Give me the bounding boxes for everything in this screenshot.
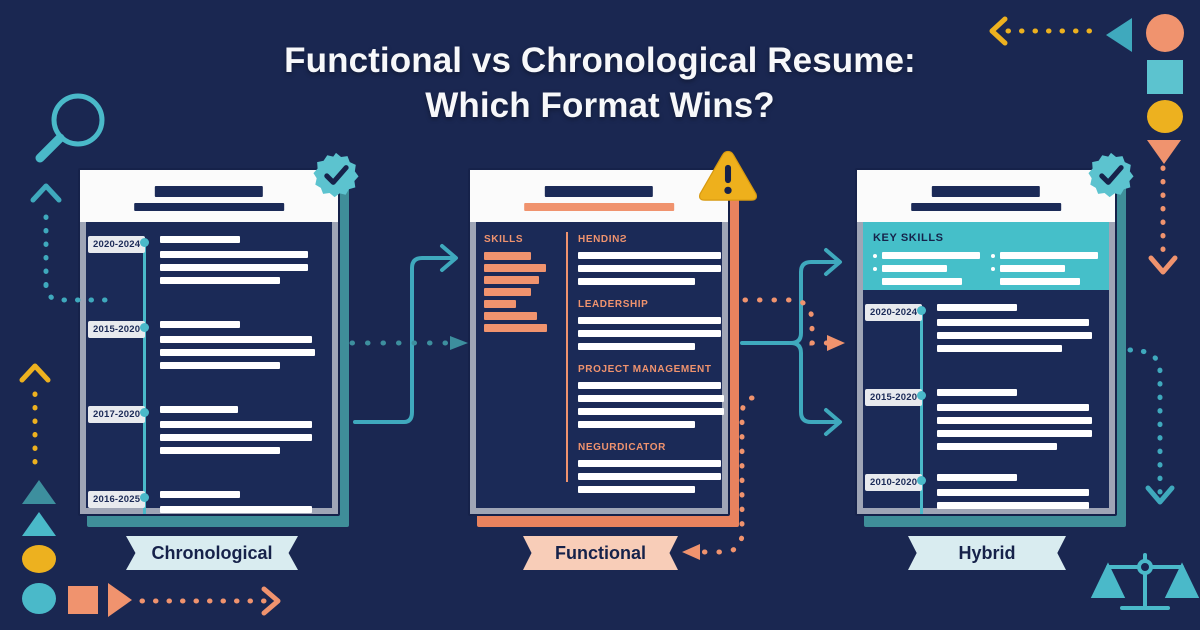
skill-bar	[484, 276, 539, 284]
timeline-date-chip: 2010-2020	[865, 474, 922, 491]
content-line	[578, 317, 721, 324]
section-heading: LEADERSHIP	[578, 299, 648, 310]
header-name-bar	[932, 186, 1040, 197]
header-name-bar	[155, 186, 263, 197]
content-line	[937, 502, 1089, 509]
cyan-square-icon	[1147, 60, 1183, 94]
salmon-circle-icon	[1146, 14, 1184, 52]
content-line	[578, 382, 721, 389]
skill-bar	[484, 312, 537, 320]
content-line	[160, 349, 315, 356]
timeline-date-chip: 2017-2020	[88, 406, 145, 423]
skill-bar	[484, 252, 531, 260]
header-subtitle-bar	[134, 203, 284, 211]
content-line	[160, 264, 308, 271]
skills-sidebar-label: SKILLS	[484, 234, 523, 245]
content-line	[160, 491, 240, 498]
timeline-date-chip: 2020-2024	[865, 304, 922, 321]
content-line	[578, 473, 721, 480]
content-line	[937, 417, 1092, 424]
cyan-triangle-left-icon	[1106, 18, 1132, 52]
content-line	[578, 278, 695, 285]
timeline-date-chip: 2020-2024	[88, 236, 145, 253]
key-skills-title: KEY SKILLS	[873, 232, 944, 244]
salmon-triangle-right-icon	[108, 583, 132, 617]
content-line	[578, 252, 721, 259]
content-line	[1000, 252, 1098, 259]
content-line	[937, 443, 1057, 450]
timeline-node	[917, 306, 926, 315]
timeline-node	[917, 476, 926, 485]
salmon-square-icon	[68, 586, 98, 614]
content-line	[160, 447, 280, 454]
skill-bar	[484, 264, 546, 272]
content-line	[160, 362, 280, 369]
balance-scales-icon	[1094, 555, 1196, 608]
teal-arrow-head-up	[33, 186, 59, 200]
content-line	[160, 336, 312, 343]
timeline-node	[140, 238, 149, 247]
content-line	[160, 251, 308, 258]
ribbon-hybrid[interactable]: Hybrid	[908, 536, 1066, 570]
skill-bar	[484, 288, 531, 296]
salmon-triangle-down-icon	[1147, 140, 1181, 164]
card-header	[80, 170, 338, 222]
yellow-arrow-head-up	[22, 366, 48, 380]
content-line	[578, 460, 721, 467]
content-line	[937, 474, 1017, 481]
warning-triangle-icon	[697, 149, 759, 205]
page-title: Functional vs Chronological Resume: Whic…	[0, 38, 1200, 128]
content-line	[1000, 265, 1065, 272]
salmon-arrow-head-down	[1151, 258, 1175, 272]
bullet-dot	[873, 267, 877, 271]
resume-card-functional[interactable]: SKILLSHENDINƧLEADERSHIPPROJECT MANAGEMEN…	[468, 168, 730, 516]
connector-functional-to-hybrid	[742, 250, 840, 434]
card-body: SKILLSHENDINƧLEADERSHIPPROJECT MANAGEMEN…	[470, 222, 728, 514]
ribbon-label: Hybrid	[958, 543, 1015, 564]
content-line	[937, 345, 1062, 352]
timeline-date-chip: 2016-2025	[88, 491, 145, 508]
ribbon-label: Chronological	[152, 543, 273, 564]
infographic-canvas: Functional vs Chronological Resume: Whic…	[0, 0, 1200, 630]
content-line	[578, 486, 695, 493]
key-skills-band: KEY SKILLS	[863, 222, 1109, 290]
dotted-arrowhead	[827, 335, 845, 351]
teal-triangle-up-icon	[22, 480, 56, 504]
content-line	[160, 406, 238, 413]
bullet-dot	[991, 254, 995, 258]
timeline-date-chip: 2015-2020	[865, 389, 922, 406]
connector-chrono-to-functional	[355, 246, 456, 422]
verified-check-badge-icon	[1088, 152, 1134, 198]
content-line	[882, 252, 980, 259]
bullet-dot	[873, 254, 877, 258]
timeline-area: 2020-20242015-20202017-20202016-2025	[86, 222, 332, 508]
content-line	[578, 343, 695, 350]
card-header	[470, 170, 728, 222]
content-line	[937, 319, 1089, 326]
hybrid-content-area: KEY SKILLS2020-20242015-20202010-2020	[863, 222, 1109, 508]
section-divider	[566, 232, 568, 482]
header-accent-bar	[524, 203, 674, 211]
content-line	[160, 421, 312, 428]
content-line	[882, 265, 947, 272]
content-line	[160, 321, 240, 328]
content-line	[937, 489, 1089, 496]
content-line	[937, 389, 1017, 396]
title-line-1: Functional vs Chronological Resume:	[284, 41, 916, 80]
section-heading: NEGURDICATOR	[578, 442, 666, 453]
yellow-circle-icon	[1147, 100, 1183, 133]
skills-sections-area: SKILLSHENDINƧLEADERSHIPPROJECT MANAGEMEN…	[476, 222, 722, 508]
skill-bar	[484, 324, 547, 332]
yellow-circle-icon	[22, 545, 56, 573]
card-body: KEY SKILLS2020-20242015-20202010-2020	[857, 222, 1115, 514]
timeline-node	[140, 408, 149, 417]
verified-check-badge-icon	[313, 152, 359, 198]
ribbon-label: Functional	[555, 543, 646, 564]
section-heading: PROJECT MANAGEMENT	[578, 364, 712, 375]
content-line	[160, 434, 312, 441]
content-line	[1000, 278, 1080, 285]
timeline-node	[917, 391, 926, 400]
content-line	[578, 330, 721, 337]
content-line	[160, 277, 280, 284]
timeline-axis	[143, 240, 146, 516]
skill-bar	[484, 300, 516, 308]
content-line	[160, 506, 312, 513]
dotted-path-functional-hybrid	[745, 300, 828, 343]
card-paper: 2020-20242015-20202017-20202016-2025	[78, 168, 340, 516]
dotted-arrowhead	[450, 336, 468, 350]
card-header	[857, 170, 1115, 222]
header-name-bar	[545, 186, 653, 197]
content-line	[578, 421, 695, 428]
teal-dotted-arrow-down	[1130, 350, 1160, 492]
cyan-circle-icon	[22, 583, 56, 614]
content-line	[937, 332, 1092, 339]
ribbon-chronological[interactable]: Chronological	[126, 536, 298, 570]
title-line-2: Which Format Wins?	[0, 83, 1200, 128]
resume-card-hybrid[interactable]: KEY SKILLS2020-20242015-20202010-2020	[855, 168, 1117, 516]
content-line	[578, 395, 724, 402]
teal-arrow-head-down	[1148, 488, 1172, 502]
content-line	[937, 515, 1057, 516]
content-line	[578, 265, 721, 272]
content-line	[937, 404, 1089, 411]
timeline-date-chip: 2015-2020	[88, 321, 145, 338]
card-paper: KEY SKILLS2020-20242015-20202010-2020	[855, 168, 1117, 516]
header-subtitle-bar	[911, 203, 1061, 211]
resume-card-chronological[interactable]: 2020-20242015-20202017-20202016-2025	[78, 168, 340, 516]
section-heading: HENDINƧ	[578, 234, 627, 245]
bullet-dot	[991, 267, 995, 271]
timeline-node	[140, 323, 149, 332]
content-line	[882, 278, 962, 285]
content-line	[937, 304, 1017, 311]
card-paper: SKILLSHENDINƧLEADERSHIPPROJECT MANAGEMEN…	[468, 168, 730, 516]
content-line	[160, 236, 240, 243]
card-body: 2020-20242015-20202017-20202016-2025	[80, 222, 338, 514]
timeline-node	[140, 493, 149, 502]
content-line	[937, 430, 1092, 437]
cyan-triangle-up-icon	[22, 512, 56, 536]
dotted-arrowhead	[682, 544, 700, 560]
ribbon-functional[interactable]: Functional	[523, 536, 678, 570]
content-line	[578, 408, 724, 415]
salmon-arrow-head-right	[264, 589, 278, 613]
